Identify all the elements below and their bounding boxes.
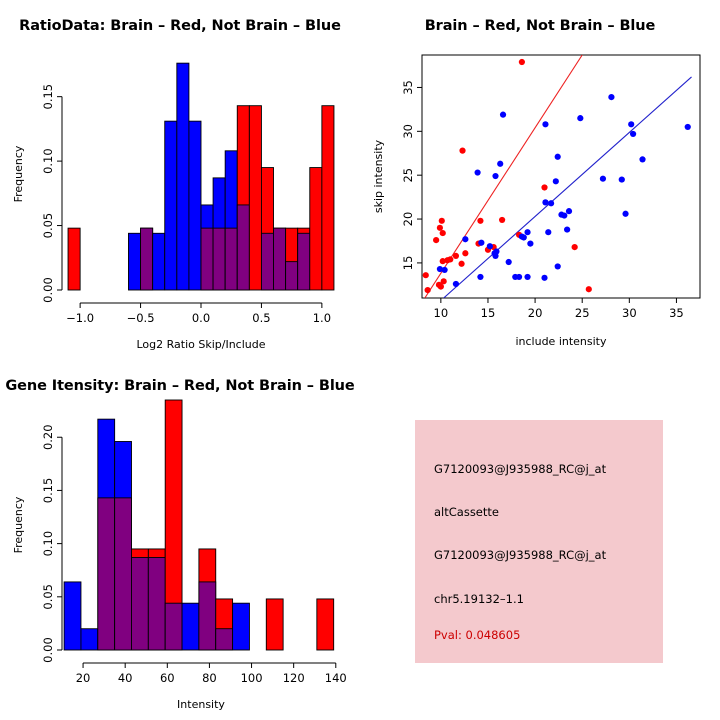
- scatter-point: [493, 248, 499, 254]
- scatter-point: [566, 208, 572, 214]
- panel-ratio-histogram: RatioData: Brain – Red, Not Brain – Blue…: [0, 0, 360, 360]
- y-tick-label: 0.15: [41, 478, 55, 504]
- scatter-point: [499, 217, 505, 223]
- scatter-point: [440, 258, 446, 264]
- scatter-point: [475, 169, 481, 175]
- scatter-point: [442, 267, 448, 273]
- histogram-bar: [266, 599, 283, 650]
- scatter-point: [561, 212, 567, 218]
- y-tick-label: 25: [401, 168, 415, 183]
- histogram-bar-overlap: [274, 228, 286, 290]
- x-tick-label: 10: [434, 306, 449, 320]
- histogram-bar-overlap: [165, 603, 182, 650]
- scatter-point: [527, 241, 533, 247]
- x-tick-label: 40: [118, 671, 133, 685]
- histogram-bar: [68, 228, 80, 290]
- scatter-point: [521, 234, 527, 240]
- panel-probe-info: G7120093@J935988_RC@j_at altCassette G71…: [360, 360, 720, 720]
- panel-intensity-scatter: Brain – Red, Not Brain – Blue 1520253035…: [360, 0, 720, 360]
- x-axis-title: Intensity: [177, 698, 225, 711]
- x-tick-label: −1.0: [66, 311, 94, 325]
- scatter-point: [447, 256, 453, 262]
- histogram-bar-overlap: [201, 228, 213, 290]
- scatter-point: [685, 124, 691, 130]
- histogram-bar-overlap: [216, 629, 233, 650]
- scatter-point: [478, 240, 484, 246]
- scatter-point: [555, 154, 561, 160]
- scatter-point: [453, 253, 459, 259]
- x-tick-label: 60: [160, 671, 175, 685]
- histogram-bar: [249, 106, 261, 290]
- panel-gene-intensity-histogram: Gene Itensity: Brain – Red, Not Brain – …: [0, 360, 360, 720]
- y-tick-label: 20: [401, 212, 415, 227]
- histogram-bar-overlap: [225, 228, 237, 290]
- x-tick-label: 120: [283, 671, 305, 685]
- scatter-point: [542, 121, 548, 127]
- histogram-bar-overlap: [286, 262, 298, 290]
- histogram-bar: [310, 168, 322, 290]
- y-tick-label: 0.00: [41, 637, 55, 663]
- x-tick-label: 80: [202, 671, 217, 685]
- scatter-point: [553, 178, 559, 184]
- scatter-point: [439, 218, 445, 224]
- ratio-histogram-plot: 0.000.050.100.15Frequency−1.0−0.50.00.51…: [0, 0, 360, 360]
- scatter-point: [622, 211, 628, 217]
- scatter-point: [639, 156, 645, 162]
- scatter-point: [487, 243, 493, 249]
- histogram-bar-overlap: [237, 205, 249, 290]
- x-tick-label: 0.5: [252, 311, 270, 325]
- scatter-point: [500, 112, 506, 118]
- y-tick-label: 0.10: [41, 148, 55, 174]
- scatter-point: [425, 287, 431, 293]
- scatter-point: [492, 173, 498, 179]
- y-tick-label: 0.20: [41, 424, 55, 450]
- x-tick-label: 0.0: [192, 311, 210, 325]
- scatter-point: [542, 199, 548, 205]
- histogram-bar: [322, 106, 334, 290]
- x-tick-label: 35: [669, 306, 684, 320]
- gene-intensity-histogram-plot: 0.000.050.100.150.20Frequency20406080100…: [0, 360, 360, 720]
- scatter-point: [516, 274, 522, 280]
- histogram-bar: [128, 233, 140, 290]
- x-axis-title: include intensity: [515, 335, 607, 348]
- x-tick-label: 100: [241, 671, 263, 685]
- scatter-point: [458, 261, 464, 267]
- histogram-bar-overlap: [148, 557, 165, 650]
- scatter-point: [555, 263, 561, 269]
- pvalue-text: Pval: 0.048605: [434, 628, 520, 642]
- scatter-point: [497, 161, 503, 167]
- event-type-text: altCassette: [434, 505, 499, 519]
- histogram-bar-overlap: [199, 582, 216, 650]
- y-tick-label: 0.10: [41, 531, 55, 557]
- y-axis-title: Frequency: [12, 496, 25, 553]
- x-tick-label: 20: [76, 671, 91, 685]
- scatter-point: [628, 121, 634, 127]
- scatter-point: [462, 250, 468, 256]
- probe-id-text: G7120093@J935988_RC@j_at: [434, 462, 606, 476]
- scatter-point: [548, 200, 554, 206]
- scatter-point: [506, 259, 512, 265]
- histogram-bar: [182, 603, 199, 650]
- histogram-bar-overlap: [298, 233, 310, 290]
- scatter-point: [423, 272, 429, 278]
- scatter-point: [462, 236, 468, 242]
- scatter-point: [545, 229, 551, 235]
- histogram-bar: [177, 63, 189, 290]
- intensity-scatter-plot: 1520253035skip intensity101520253035incl…: [360, 0, 720, 360]
- scatter-point: [437, 225, 443, 231]
- scatter-point: [630, 131, 636, 137]
- histogram-bar: [81, 629, 98, 650]
- x-tick-label: 30: [622, 306, 637, 320]
- histogram-bar: [189, 121, 201, 290]
- histogram-bar-overlap: [141, 228, 153, 290]
- y-axis-title: skip intensity: [372, 139, 385, 213]
- x-axis-title: Log2 Ratio Skip/Include: [136, 338, 265, 351]
- scatter-point: [541, 184, 547, 190]
- histogram-bar-overlap: [213, 228, 225, 290]
- scatter-content: [423, 55, 692, 298]
- scatter-point: [524, 274, 530, 280]
- scatter-point: [541, 275, 547, 281]
- y-tick-label: 15: [401, 256, 415, 271]
- y-axis-title: Frequency: [12, 145, 25, 202]
- histogram-bar-overlap: [115, 498, 132, 650]
- scatter-point: [564, 226, 570, 232]
- scatter-point: [586, 286, 592, 292]
- scatter-point: [453, 281, 459, 287]
- scatter-point: [577, 115, 583, 121]
- histogram-bar: [165, 121, 177, 290]
- histogram-bar: [233, 603, 250, 650]
- histogram-bar: [153, 233, 165, 290]
- y-tick-label: 35: [401, 80, 415, 95]
- scatter-point: [433, 237, 439, 243]
- locus-text: chr5.19132–1.1: [434, 592, 524, 606]
- y-tick-label: 0.05: [41, 584, 55, 610]
- scatter-point: [519, 59, 525, 65]
- y-tick-label: 0.00: [41, 277, 55, 303]
- y-tick-label: 0.15: [41, 84, 55, 110]
- scatter-point: [572, 244, 578, 250]
- x-tick-label: 140: [325, 671, 347, 685]
- scatter-point: [438, 283, 444, 289]
- histogram-bar-overlap: [261, 233, 273, 290]
- histogram-bar: [317, 599, 334, 650]
- scatter-point: [608, 94, 614, 100]
- histogram-bar: [64, 582, 81, 650]
- scatter-point: [440, 230, 446, 236]
- scatter-point: [477, 218, 483, 224]
- x-tick-label: 25: [575, 306, 590, 320]
- probe-id-secondary-text: G7120093@J935988_RC@j_at: [434, 548, 606, 562]
- x-tick-label: 1.0: [313, 311, 331, 325]
- y-tick-label: 30: [401, 124, 415, 139]
- y-tick-label: 0.05: [41, 213, 55, 239]
- x-tick-label: 15: [481, 306, 496, 320]
- scatter-point: [600, 176, 606, 182]
- histogram-bar-overlap: [98, 498, 115, 650]
- scatter-point: [459, 148, 465, 154]
- scatter-point: [477, 274, 483, 280]
- probe-info-box: G7120093@J935988_RC@j_at altCassette G71…: [415, 420, 663, 663]
- scatter-point: [619, 176, 625, 182]
- scatter-point: [524, 229, 530, 235]
- x-tick-label: −0.5: [127, 311, 155, 325]
- histogram-bar-overlap: [132, 557, 149, 650]
- regression-line: [444, 77, 692, 298]
- x-tick-label: 20: [528, 306, 543, 320]
